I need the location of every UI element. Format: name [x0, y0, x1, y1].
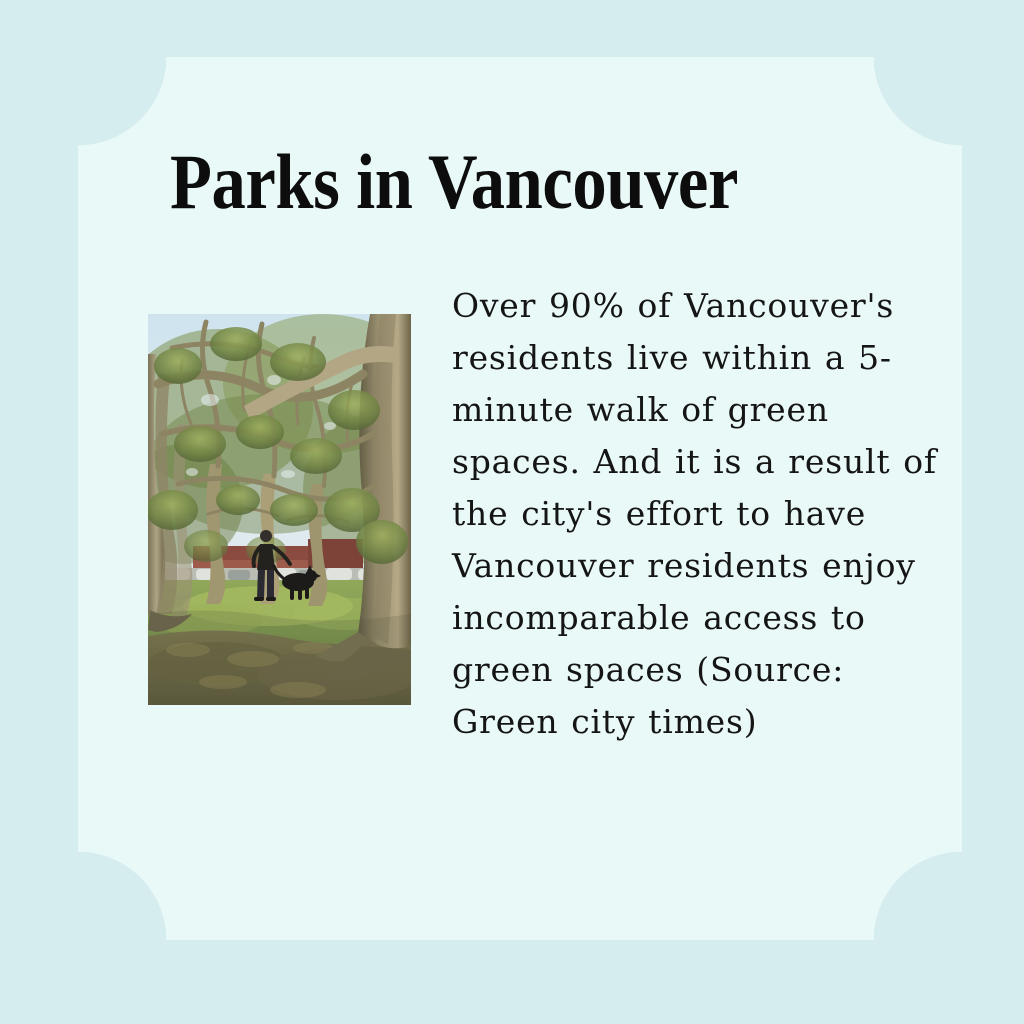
poster-canvas: Parks in Vancouver	[0, 0, 1024, 1024]
body-paragraph: Over 90% of Vancouver's residents live w…	[452, 280, 940, 748]
park-photo-illustration	[148, 314, 411, 705]
park-photo	[148, 314, 411, 705]
page-title: Parks in Vancouver	[170, 137, 839, 227]
